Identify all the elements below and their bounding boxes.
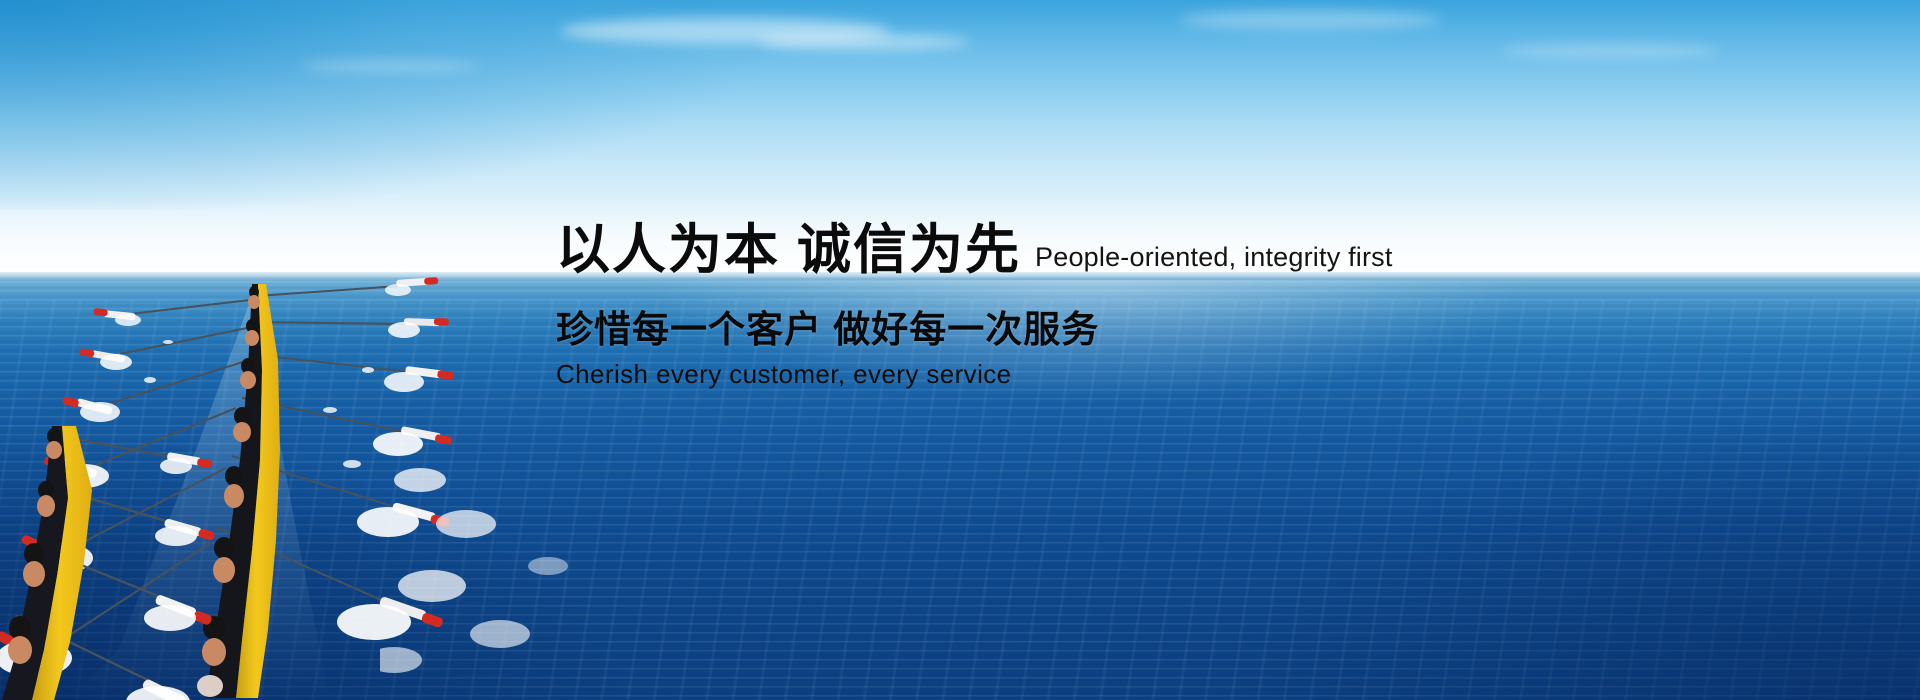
sea-shadow-right [1220, 400, 1920, 700]
hero-banner: 以人为本 诚信为先 People-oriented, integrity fir… [0, 0, 1920, 700]
foam-field [380, 420, 720, 700]
subheadline-chinese: 珍惜每一个客户 做好每一次服务 [556, 299, 1556, 353]
boat-wake [70, 290, 330, 700]
headline-english: People-oriented, integrity first [1035, 242, 1393, 273]
headline-chinese: 以人为本 诚信为先 [556, 222, 1021, 279]
cloud-wisp [300, 60, 480, 72]
cloud-wisp [1500, 44, 1720, 58]
headline-row: 以人为本 诚信为先 People-oriented, integrity fir… [556, 222, 1556, 279]
slogan-block: 以人为本 诚信为先 People-oriented, integrity fir… [556, 222, 1556, 390]
subheadline-english: Cherish every customer, every service [556, 359, 1556, 390]
cloud-wisp [760, 34, 970, 50]
cloud-wisp [1180, 10, 1440, 30]
